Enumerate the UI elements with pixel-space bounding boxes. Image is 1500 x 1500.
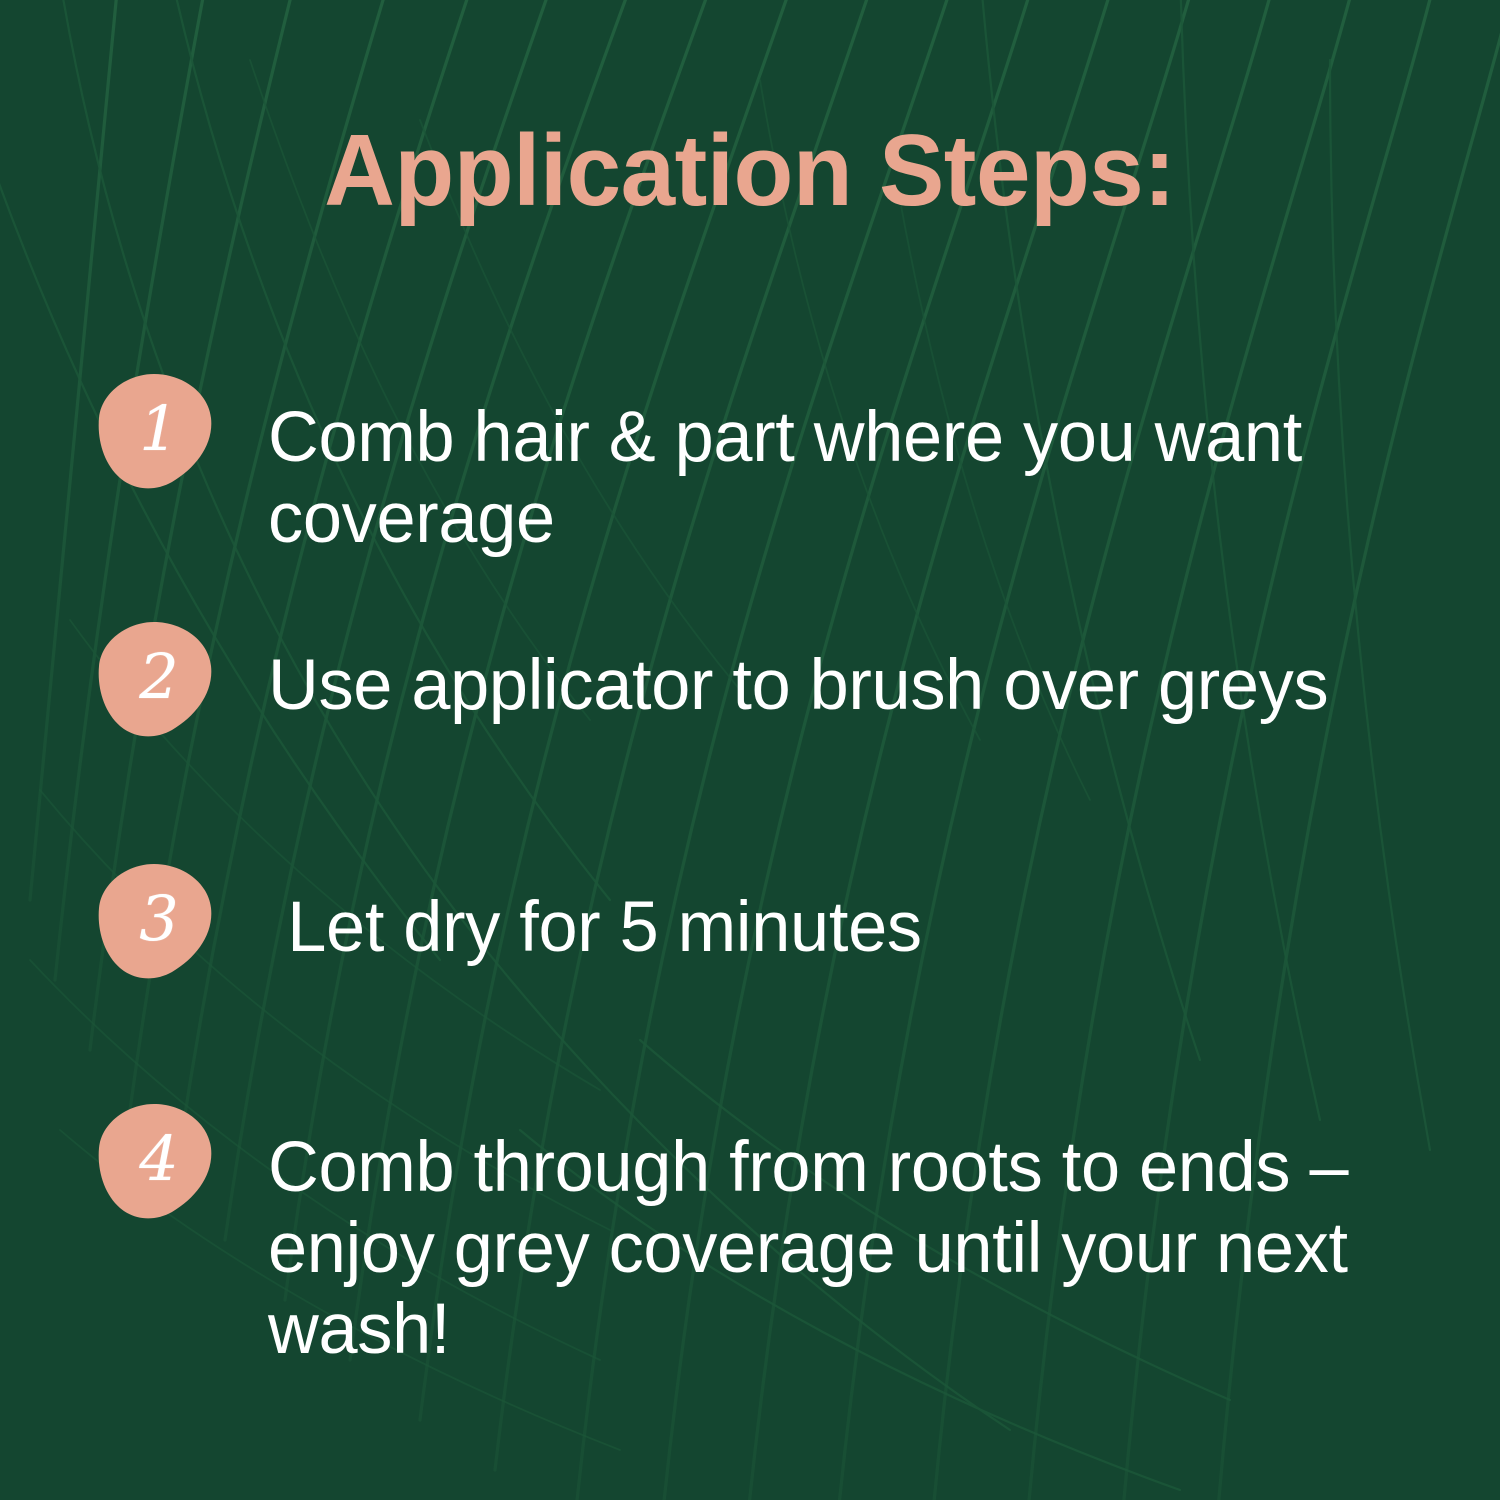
step-item-3: 3 Let dry for 5 minutes — [96, 862, 1456, 980]
step-number-1: 1 — [96, 372, 214, 490]
step-number-2: 2 — [96, 620, 214, 738]
step-item-4: 4 Comb through from roots to ends – enjo… — [96, 1102, 1456, 1371]
step-text-2: Use applicator to brush over greys — [268, 646, 1444, 727]
step-text-3: Let dry for 5 minutes — [268, 888, 1444, 969]
step-badge-3: 3 — [96, 862, 214, 980]
step-badge-2: 2 — [96, 620, 214, 738]
step-text-4: Comb through from roots to ends – enjoy … — [268, 1128, 1444, 1371]
step-text-1: Comb hair & part where you want coverage — [268, 398, 1444, 560]
step-badge-1: 1 — [96, 372, 214, 490]
step-number-3: 3 — [96, 862, 214, 980]
step-item-1: 1 Comb hair & part where you want covera… — [96, 372, 1456, 560]
step-item-2: 2 Use applicator to brush over greys — [96, 620, 1456, 738]
step-badge-4: 4 — [96, 1102, 214, 1220]
step-number-4: 4 — [96, 1102, 214, 1220]
application-steps-poster: Application Steps: 1 Comb hair & part wh… — [0, 0, 1500, 1500]
steps-list: 1 Comb hair & part where you want covera… — [0, 0, 1500, 1500]
